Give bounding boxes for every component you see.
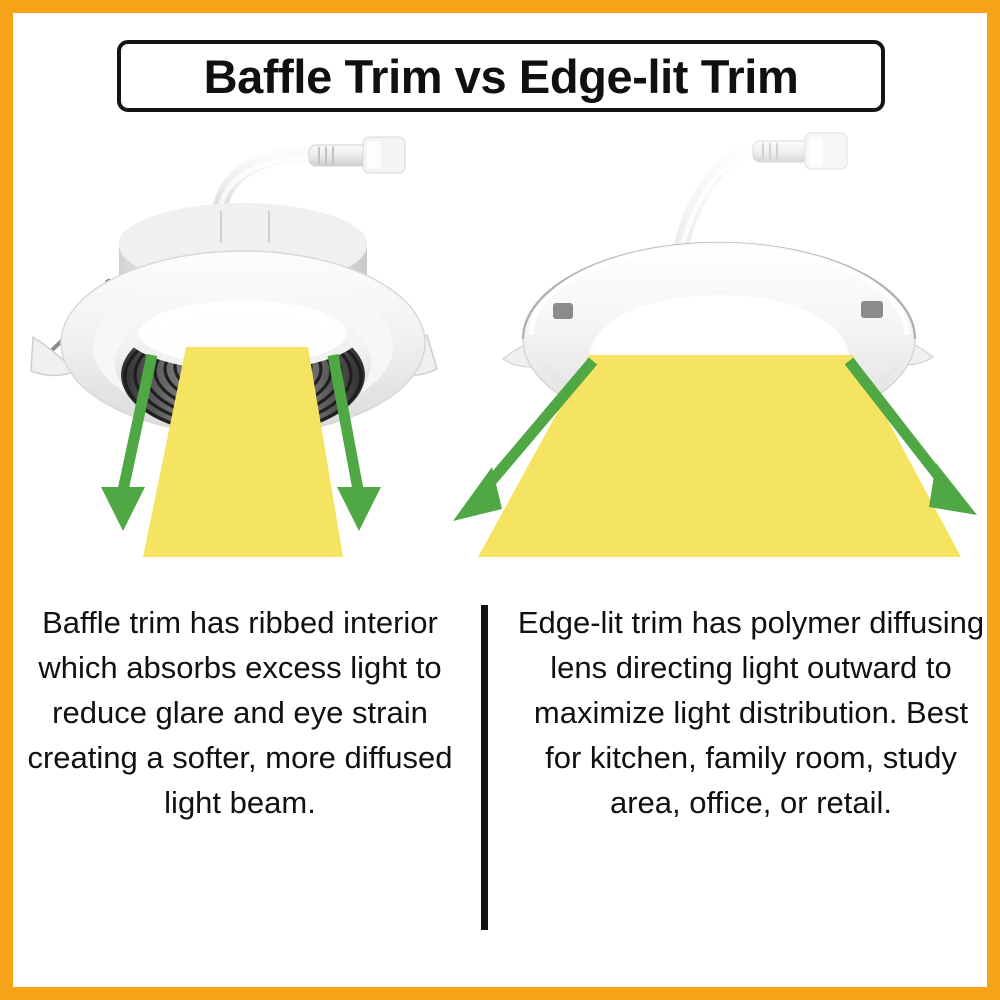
arrow-down-left bbox=[101, 355, 152, 531]
frame-border-left bbox=[0, 0, 13, 1000]
beam-direction-arrows-right bbox=[453, 125, 987, 570]
title-box: Baffle Trim vs Edge-lit Trim bbox=[117, 40, 885, 112]
caption-edge-lit-trim: Edge-lit trim has polymer diffusing lens… bbox=[513, 600, 989, 825]
baffle-trim-illustration bbox=[23, 125, 463, 570]
caption-baffle-trim: Baffle trim has ribbed interior which ab… bbox=[21, 600, 459, 825]
frame-border-right bbox=[987, 0, 1000, 1000]
arrow-down-outward-left bbox=[453, 361, 593, 521]
arrow-down-outward-right bbox=[849, 361, 977, 515]
page-title: Baffle Trim vs Edge-lit Trim bbox=[204, 53, 799, 100]
beam-direction-arrows-left bbox=[23, 125, 463, 570]
caption-divider bbox=[481, 605, 488, 930]
arrow-down-right bbox=[333, 355, 381, 531]
frame-border-top bbox=[0, 0, 1000, 13]
infographic-page: Baffle Trim vs Edge-lit Trim bbox=[0, 0, 1000, 1000]
edge-lit-trim-illustration bbox=[453, 125, 987, 570]
illustration-stage bbox=[13, 120, 987, 590]
captions-row: Baffle trim has ribbed interior which ab… bbox=[13, 600, 987, 940]
frame-border-bottom bbox=[0, 987, 1000, 1000]
